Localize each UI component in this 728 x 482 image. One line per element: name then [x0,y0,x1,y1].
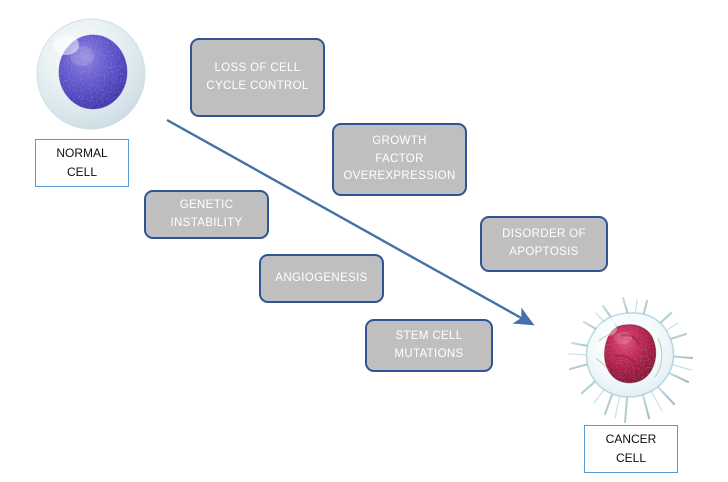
process-box-label: STEM CELL MUTATIONS [394,328,463,364]
process-box-genetic-instability[interactable]: GENETIC INSTABILITY [144,190,269,239]
cancer-cell-caption: CANCER CELL [584,425,678,473]
process-box-loss-of-cell-cycle-control[interactable]: LOSS OF CELL CYCLE CONTROL [190,38,325,117]
process-box-label: ANGIOGENESIS [275,270,367,288]
process-box-disorder-of-apoptosis[interactable]: DISORDER OF APOPTOSIS [480,216,608,272]
normal-cell-image [33,15,150,133]
process-box-growth-factor-overexpression[interactable]: GROWTH FACTOR OVEREXPRESSION [332,123,467,196]
process-box-label: DISORDER OF APOPTOSIS [502,226,586,262]
normal-cell-caption-text: NORMAL CELL [56,144,107,182]
diagram-canvas: NORMAL CELL LOSS OF CELL CYCLE CONTROL G… [0,0,728,482]
normal-cell-caption: NORMAL CELL [35,139,129,187]
process-box-label: GROWTH FACTOR OVEREXPRESSION [343,133,455,186]
process-box-stem-cell-mutations[interactable]: STEM CELL MUTATIONS [365,319,493,372]
cancer-cell-image [563,296,698,426]
process-box-label: GENETIC INSTABILITY [170,197,242,233]
cancer-cell-caption-text: CANCER CELL [606,430,657,468]
process-box-label: LOSS OF CELL CYCLE CONTROL [206,60,308,96]
process-box-angiogenesis[interactable]: ANGIOGENESIS [259,254,384,303]
